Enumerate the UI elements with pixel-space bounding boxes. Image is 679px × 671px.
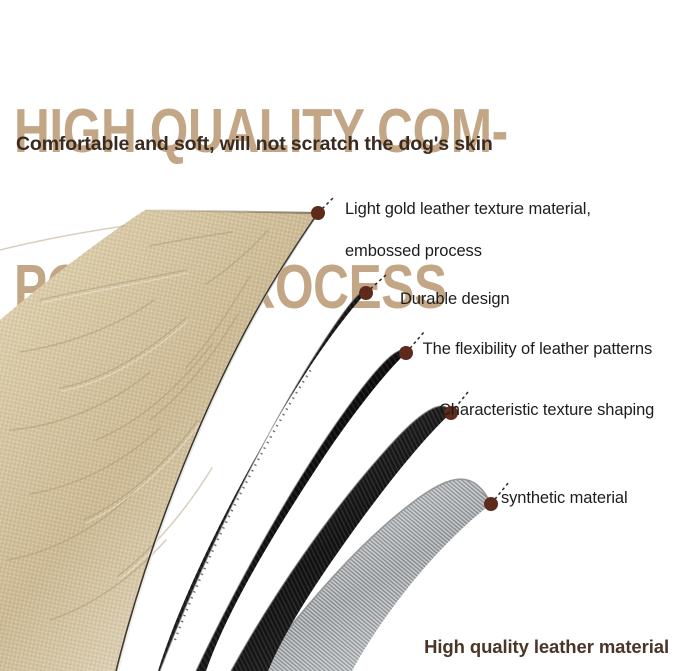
callout-label-light-gold-leather: Light gold leather texture material, emb… (336, 178, 591, 262)
callout-label-flexibility-leather-patterns: The flexibility of leather patterns (414, 318, 652, 360)
callout-line-1: synthetic material (501, 489, 628, 507)
callout-label-synthetic-material: synthetic material (492, 467, 628, 509)
callout-label-durable-design: Durable design (391, 268, 510, 310)
callout-line-1: Light gold leather texture material, (345, 200, 591, 218)
callout-dot-light-gold-leather[interactable] (311, 206, 325, 220)
callout-label-characteristic-texture-shaping: Characteristic texture shaping (430, 379, 654, 421)
gold-leather-layer (0, 210, 318, 671)
bottom-caption: High quality leather material (424, 636, 669, 658)
callout-dot-flexibility-leather-patterns[interactable] (399, 346, 413, 360)
callout-line-1: Durable design (400, 290, 510, 308)
callout-line-1: The flexibility of leather patterns (423, 340, 652, 358)
callout-dot-durable-design[interactable] (359, 286, 373, 300)
callout-line-2: embossed process (345, 242, 482, 260)
callout-line-1: Characteristic texture shaping (439, 401, 654, 419)
